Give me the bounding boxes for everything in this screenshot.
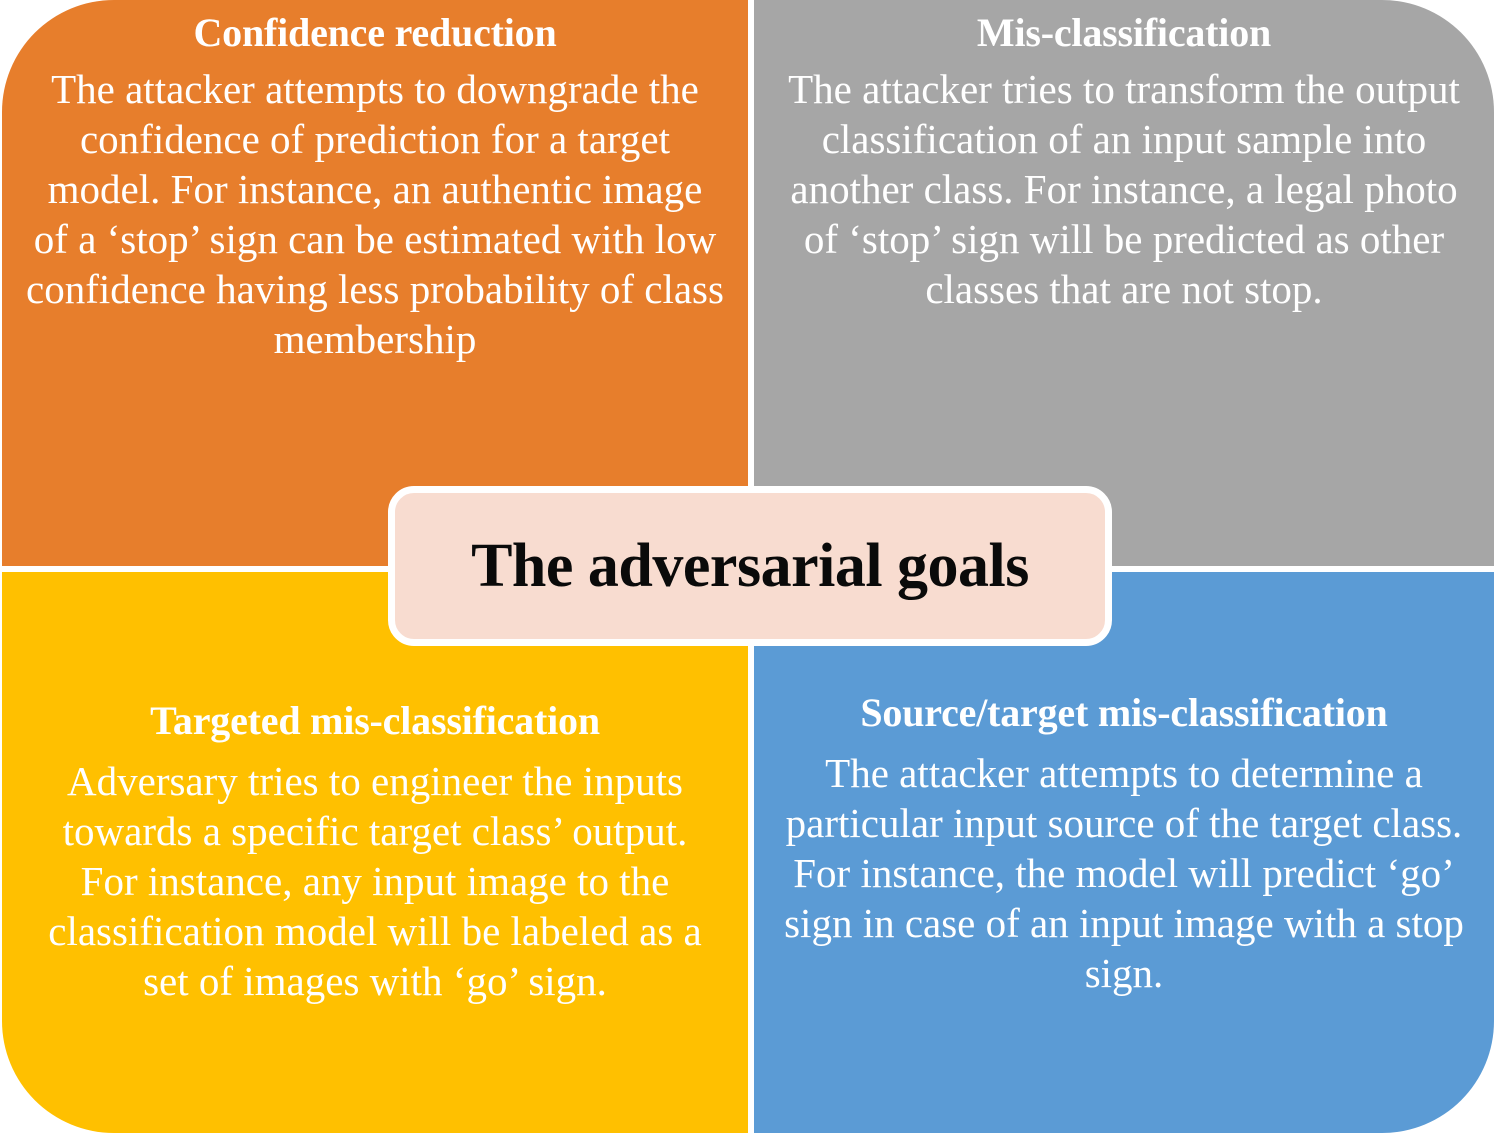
quadrant-title-confidence-reduction: Confidence reduction bbox=[193, 12, 556, 54]
quadrant-source-target-mis-classification: Source/target mis-classification The att… bbox=[754, 572, 1494, 1133]
quadrant-title-source-target-mis-classification: Source/target mis-classification bbox=[860, 692, 1387, 734]
quadrant-body-targeted-mis-classification: Adversary tries to engineer the inputs t… bbox=[30, 756, 720, 1006]
quadrant-title-targeted-mis-classification: Targeted mis-classification bbox=[150, 700, 600, 742]
diagram-center-title: The adversarial goals bbox=[471, 535, 1029, 597]
quadrant-title-mis-classification: Mis-classification bbox=[977, 12, 1271, 54]
quadrant-body-source-target-mis-classification: The attacker attempts to determine a par… bbox=[776, 748, 1472, 998]
center-label-card: The adversarial goals bbox=[388, 486, 1112, 646]
quadrant-body-mis-classification: The attacker tries to transform the outp… bbox=[780, 64, 1468, 314]
quadrant-targeted-mis-classification: Targeted mis-classification Adversary tr… bbox=[2, 572, 748, 1133]
quadrant-body-confidence-reduction: The attacker attempts to downgrade the c… bbox=[26, 64, 724, 364]
adversarial-goals-diagram: Confidence reduction The attacker attemp… bbox=[0, 0, 1500, 1133]
quadrant-mis-classification: Mis-classification The attacker tries to… bbox=[754, 0, 1494, 566]
quadrant-confidence-reduction: Confidence reduction The attacker attemp… bbox=[2, 0, 748, 566]
